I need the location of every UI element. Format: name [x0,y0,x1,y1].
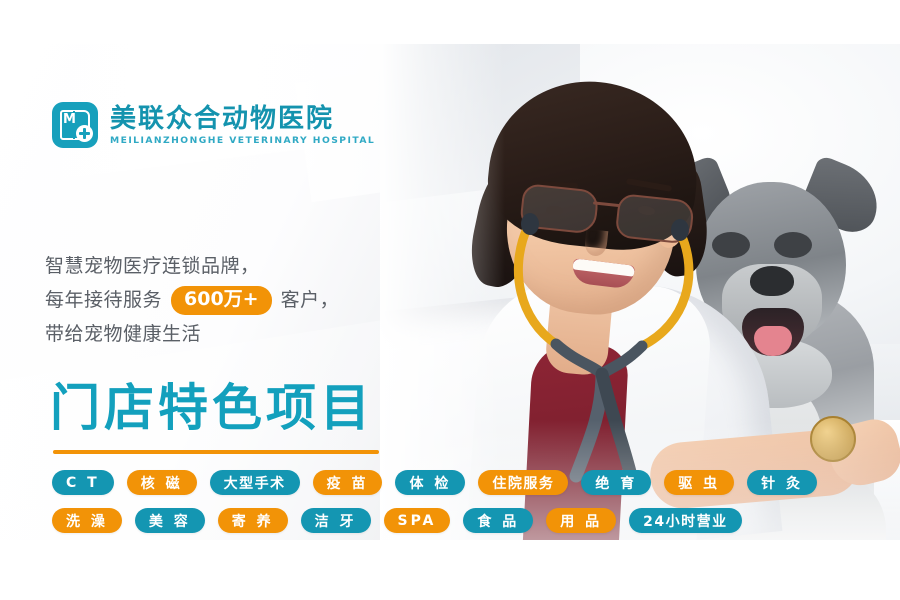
service-tag[interactable]: 驱 虫 [664,470,734,495]
service-tag[interactable]: 针 灸 [747,470,817,495]
medical-plus-icon [76,125,93,142]
service-tag[interactable]: SPA [384,508,451,533]
service-tag[interactable]: 用 品 [546,508,616,533]
service-tag[interactable]: 洗 澡 [52,508,122,533]
veterinarian-with-dog-photo [380,44,900,540]
tagline-block: 智慧宠物医疗连锁品牌， 每年接待服务 600万+ 客户， 带给宠物健康生活 [45,249,405,351]
service-tag[interactable]: 24小时营业 [629,508,741,533]
service-tag[interactable]: 住院服务 [478,470,568,495]
tagline-line-2-after: 客户， [281,283,340,317]
brand-logo[interactable]: M 美联众合动物医院 MEILIANZHONGHE VETERINARY HOS… [52,102,375,148]
poster-plate: M 美联众合动物医院 MEILIANZHONGHE VETERINARY HOS… [0,44,900,540]
service-tag[interactable]: 疫 苗 [313,470,383,495]
tagline-line-2-before: 每年接待服务 [45,283,162,317]
book-plus-medical-icon: M [52,102,98,148]
page-title: 门店特色项目 [50,380,374,436]
letter-m: M [63,113,78,126]
customer-count-badge: 600万+ [171,286,272,315]
service-tag-row-1: C T核 磁大型手术疫 苗体 检住院服务绝 育驱 虫针 灸 [52,470,862,495]
service-tag[interactable]: 寄 养 [218,508,288,533]
brand-name-en: MEILIANZHONGHE VETERINARY HOSPITAL [110,135,375,146]
banner-root: M 美联众合动物医院 MEILIANZHONGHE VETERINARY HOS… [0,0,900,600]
service-tag[interactable]: C T [52,470,114,495]
service-tag[interactable]: 洁 牙 [301,508,371,533]
brand-text: 美联众合动物医院 MEILIANZHONGHE VETERINARY HOSPI… [110,105,375,146]
service-tag[interactable]: 核 磁 [127,470,197,495]
service-tag[interactable]: 美 容 [135,508,205,533]
service-tag[interactable]: 绝 育 [581,470,651,495]
brand-name-cn: 美联众合动物医院 [110,105,375,133]
tagline-line-1: 智慧宠物医疗连锁品牌， [45,249,405,283]
tagline-line-2: 每年接待服务 600万+ 客户， [45,283,405,317]
service-tag[interactable]: 食 品 [463,508,533,533]
service-tag-list: C T核 磁大型手术疫 苗体 检住院服务绝 育驱 虫针 灸 洗 澡美 容寄 养洁… [52,470,862,540]
tagline-line-3: 带给宠物健康生活 [45,317,405,351]
service-tag[interactable]: 大型手术 [210,470,300,495]
service-tag[interactable]: 体 检 [395,470,465,495]
title-underline [53,450,379,454]
service-tag-row-2: 洗 澡美 容寄 养洁 牙SPA食 品用 品24小时营业 [52,508,862,533]
